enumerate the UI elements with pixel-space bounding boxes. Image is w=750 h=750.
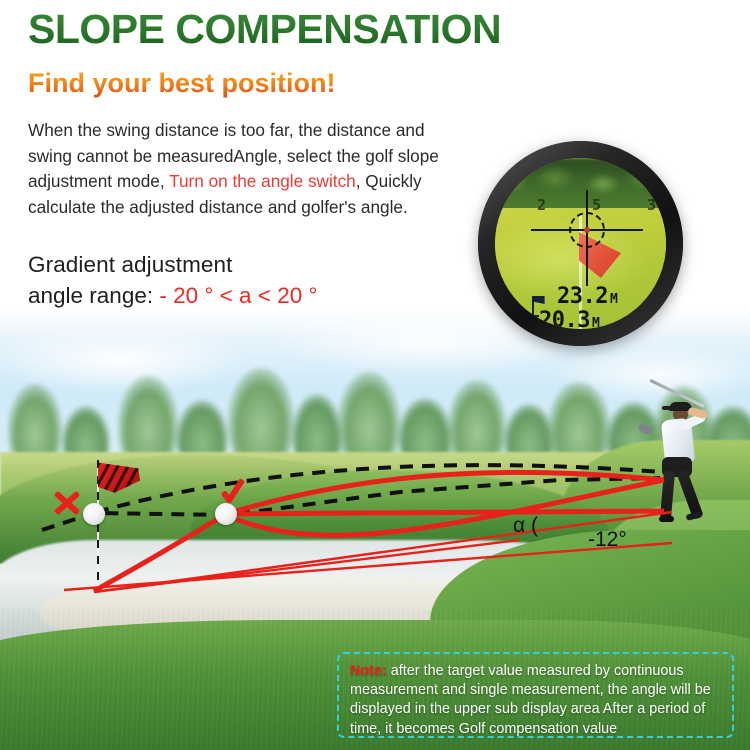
distance-primary-unit: M xyxy=(610,292,617,307)
note-box: Note: after the target value measured by… xyxy=(337,652,734,738)
angle-range-label: angle range: xyxy=(28,283,153,308)
angle-range-value: - 20 ° < a < 20 ° xyxy=(159,283,317,308)
golf-ball-adjusted xyxy=(215,503,237,525)
page-subtitle: Find your best position! xyxy=(28,68,335,99)
golfer-figure xyxy=(636,389,720,529)
distance-secondary-value: 20.3 xyxy=(539,308,590,329)
slope-compensation-infographic: α ( -12° 2 5 3 23.2M xyxy=(0,0,750,750)
angle-alpha-label: α ( xyxy=(513,514,538,538)
note-text: Note: after the target value measured by… xyxy=(350,662,721,739)
gradient-adjustment-title: Gradient adjustment xyxy=(28,252,233,278)
distance-secondary-unit: M xyxy=(592,316,599,329)
note-label: Note: xyxy=(350,663,387,679)
angle-value-label: -12° xyxy=(588,528,627,552)
x-mark-icon xyxy=(52,487,82,517)
angle-range-line: angle range: - 20 ° < a < 20 ° xyxy=(28,283,317,309)
distance-secondary-readout: 20.3M xyxy=(539,308,599,329)
crosshair-reticle-icon xyxy=(531,198,643,260)
golf-ball-original xyxy=(83,503,105,525)
page-title: SLOPE COMPENSATION xyxy=(28,6,501,53)
distance-primary-readout: 23.2M xyxy=(557,284,617,309)
check-mark-icon xyxy=(222,478,250,504)
rangefinder-scope[interactable]: 2 5 3 23.2M 20.3M xyxy=(478,141,683,346)
scope-digit-3: 3 xyxy=(647,196,657,214)
golf-course-photo xyxy=(0,0,750,750)
scope-lens-view: 2 5 3 23.2M 20.3M xyxy=(495,158,666,329)
body-highlight: Turn on the angle switch xyxy=(169,171,356,191)
body-paragraph: When the swing distance is too far, the … xyxy=(28,118,458,220)
distance-primary-value: 23.2 xyxy=(557,284,608,309)
note-body: after the target value measured by conti… xyxy=(350,663,711,737)
